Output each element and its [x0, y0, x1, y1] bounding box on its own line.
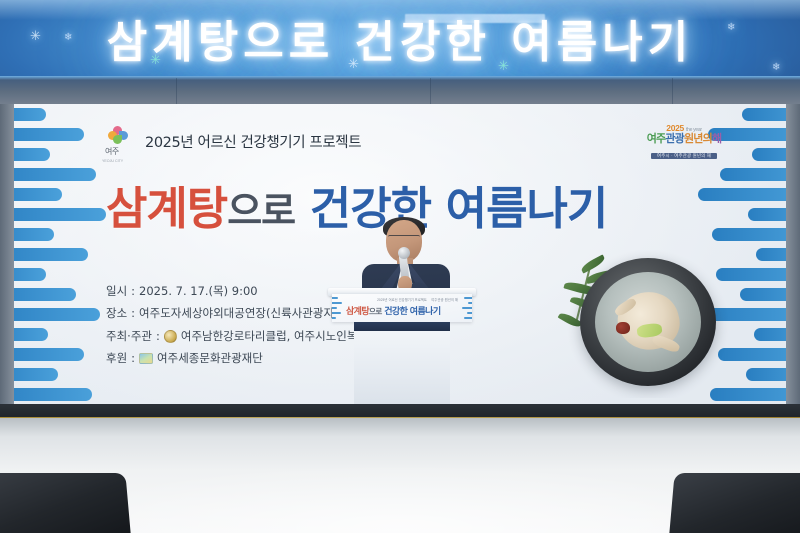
podium-sign-bars-right: [460, 294, 472, 322]
sparkle-icon: ✳: [150, 52, 161, 68]
podium-headline-gray: 으로: [369, 307, 382, 316]
rotary-emblem-icon: [164, 330, 177, 343]
podium: 2025년 어르신 건강챙기기 프로젝트 여주관광 원년의 해 삼계탕으로 건강…: [328, 288, 476, 420]
detail-value-sponsor: 여주세종문화관광재단: [157, 347, 263, 369]
podium-sign-headline: 삼계탕으로 건강한 여름나기: [346, 304, 458, 317]
chair-left: [0, 473, 131, 533]
project-title: 2025년 어르신 건강챙기기 프로젝트: [145, 131, 361, 152]
blue-bar-pattern-left: [14, 104, 104, 412]
sparkle-icon: ✳: [348, 56, 359, 72]
chair-right: [669, 473, 800, 533]
wall-baseboard: [0, 404, 800, 418]
led-banner: 삼계탕으로 건강한 여름나기 ✳ ❄ ✳ ✳ ✳ ❄ ❄: [0, 0, 800, 76]
yeoju-city-logo-sublabel: YEOJU CITY: [102, 159, 123, 163]
yeoju-tourism-logo: 2025 the year 여주관광원년의해 여주시 · 여주관광 원년의 해: [628, 124, 740, 162]
podium-body-accent: [354, 322, 450, 331]
tourism-logo-badge: 여주시 · 여주관광 원년의 해: [651, 153, 717, 160]
podium-sign-bars-left: [332, 294, 344, 322]
podium-headline-red: 삼계탕: [346, 307, 369, 317]
soup-broth: [595, 272, 701, 372]
podium-sign: 2025년 어르신 건강챙기기 프로젝트 여주관광 원년의 해 삼계탕으로 건강…: [332, 294, 472, 322]
sparkle-icon: ✳: [30, 28, 41, 44]
yeoju-city-logo: 여주 YEOJU CITY: [102, 126, 136, 156]
snowflake-icon: ❄: [64, 32, 72, 43]
event-photo-scene: 삼계탕으로 건강한 여름나기 ✳ ❄ ✳ ✳ ✳ ❄ ❄: [0, 0, 800, 533]
headline-part-gray: 으로: [227, 189, 295, 233]
led-banner-text: 삼계탕으로 건강한 여름나기: [0, 6, 800, 70]
detail-value-date: 2025. 7. 17.(목) 9:00: [139, 280, 258, 302]
soup-bowl: [580, 258, 716, 386]
podium-body: [354, 322, 450, 404]
snowflake-icon: ❄: [772, 62, 780, 73]
tourism-logo-part-3: 원년의: [684, 132, 712, 145]
detail-label-date: 일시: [106, 280, 127, 302]
detail-label-venue: 장소: [106, 302, 127, 324]
foundation-emblem-icon: [139, 353, 153, 364]
yeoju-city-logo-label: 여주: [105, 146, 119, 157]
right-side-wall: [784, 104, 800, 406]
podium-sign-logo: 여주관광 원년의 해: [431, 298, 458, 302]
headline-part-red: 삼계탕: [106, 182, 227, 235]
tourism-logo-part-2: 관광: [665, 132, 684, 145]
glasses-icon: [388, 235, 420, 243]
detail-label-organizer: 주최·주관: [106, 325, 152, 347]
samgyetang-photo: [556, 250, 742, 398]
detail-label-sponsor: 후원: [106, 347, 127, 369]
backdrop-header: 여주 YEOJU CITY 2025년 어르신 건강챙기기 프로젝트: [102, 126, 361, 156]
podium-headline-blue: 건강한 여름나기: [384, 307, 440, 317]
sparkle-icon: ✳: [498, 58, 509, 74]
tourism-logo-part-1: 여주: [647, 132, 666, 145]
microphone-icon: [398, 247, 410, 259]
jujube-icon: [616, 322, 630, 334]
detail-value-venue: 여주도자세상야외대공연장(신륙사관광지 내): [139, 302, 353, 324]
snowflake-icon: ❄: [727, 22, 735, 33]
tourism-logo-part-4: 해: [712, 132, 721, 145]
